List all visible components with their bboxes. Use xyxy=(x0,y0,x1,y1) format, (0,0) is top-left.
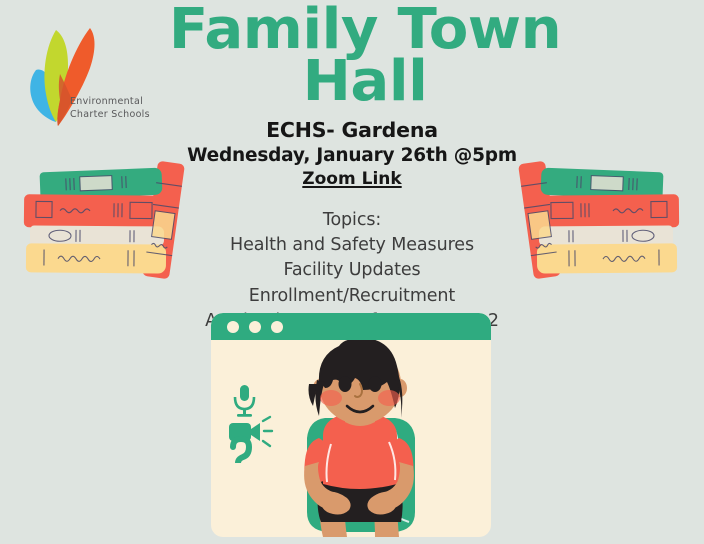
window-dot-icon xyxy=(249,321,261,333)
organization-line: ECHS- Gardena xyxy=(112,118,592,142)
page-title-line1: Family Town xyxy=(144,4,587,56)
video-window-titlebar xyxy=(211,313,491,340)
page-title-line2: Hall xyxy=(144,56,587,108)
call-controls-icons xyxy=(229,385,275,463)
seated-child-illustration xyxy=(265,340,455,537)
flyer-canvas: Environmental Charter Schools Family Tow… xyxy=(0,0,704,544)
book-stack-right xyxy=(510,162,685,292)
microphone-icon xyxy=(235,385,254,417)
book-coral xyxy=(24,194,166,228)
window-dot-icon xyxy=(271,321,283,333)
video-window-body xyxy=(211,340,491,537)
book-yellow xyxy=(537,243,677,273)
video-call-illustration xyxy=(211,313,491,537)
book-stack-left xyxy=(18,162,193,292)
book-yellow xyxy=(26,243,166,273)
page-title: Family Town Hall xyxy=(144,4,587,107)
window-dot-icon xyxy=(227,321,239,333)
book-coral xyxy=(537,194,679,228)
phone-handset-icon xyxy=(233,439,249,463)
